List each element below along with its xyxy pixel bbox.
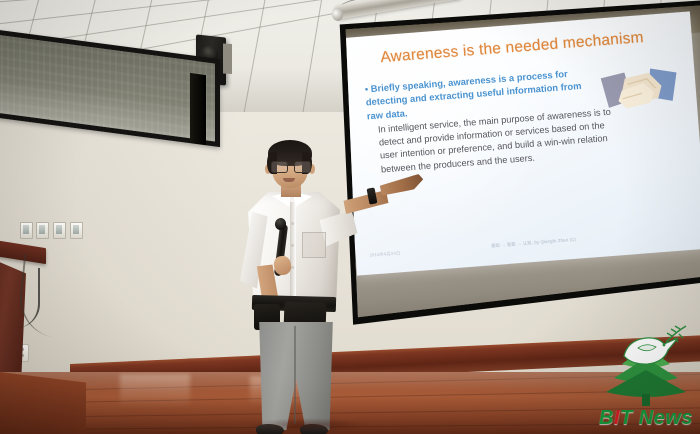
handshake-icon bbox=[590, 66, 691, 145]
slide-footer-credit: 感知 → 智能 → 认知, by Qiangfu Zhao (C) bbox=[491, 237, 576, 250]
logo-b: B bbox=[599, 407, 614, 429]
screenshot-root: Awareness is the needed mechanism • Brie… bbox=[0, 0, 700, 434]
bit-news-label: BIT News bbox=[594, 407, 698, 430]
glasses-icon bbox=[271, 161, 310, 171]
shirt-pocket bbox=[302, 232, 326, 258]
slide-footer-date: 2015年6月24日 bbox=[369, 250, 400, 258]
presenter-shadow bbox=[250, 418, 370, 432]
slide-title: Awareness is the needed mechanism bbox=[380, 25, 690, 67]
projection-screen: Awareness is the needed mechanism • Brie… bbox=[336, 0, 700, 330]
projected-slide: Awareness is the needed mechanism • Brie… bbox=[339, 11, 700, 275]
screen-surface: Awareness is the needed mechanism • Brie… bbox=[336, 0, 700, 326]
screen-roller-housing[interactable] bbox=[333, 0, 466, 20]
trousers bbox=[256, 322, 336, 430]
bit-news-watermark: BIT News bbox=[594, 320, 698, 432]
logo-rest: T News bbox=[620, 407, 693, 429]
presenter bbox=[236, 136, 366, 416]
dove-pine-emblem bbox=[594, 320, 698, 412]
floor-left-edge bbox=[0, 372, 86, 434]
shirt-placket bbox=[290, 202, 296, 300]
